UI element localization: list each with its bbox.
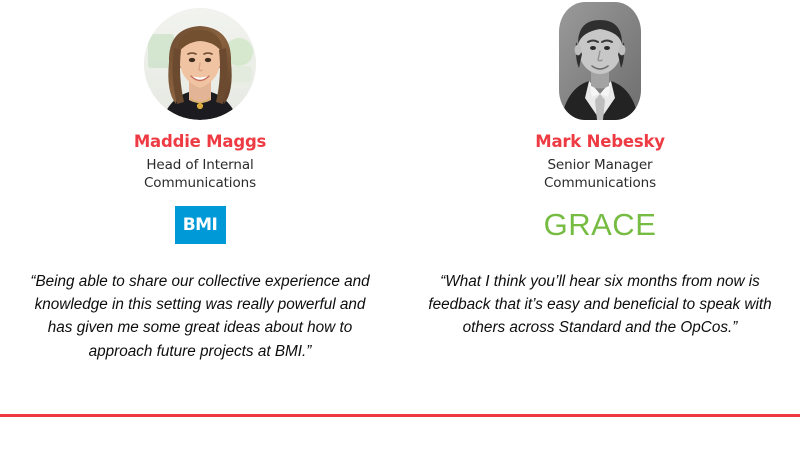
company-logo-wrapper-right: GRACE xyxy=(544,202,657,248)
person-name: Maddie Maggs xyxy=(134,133,266,151)
testimonials-columns: Maddie Maggs Head of Internal Communicat… xyxy=(0,0,800,410)
person-role-line-2: Communications xyxy=(144,175,256,193)
portrait-mark-nebesky xyxy=(559,2,641,120)
portrait-wrapper-right xyxy=(559,0,641,120)
testimonials-slide: Maddie Maggs Head of Internal Communicat… xyxy=(0,0,800,450)
quote-text: “Being able to share our collective expe… xyxy=(24,270,376,363)
portrait-wrapper-left xyxy=(144,0,256,120)
person-role-line-1: Senior Manager xyxy=(544,157,656,175)
portrait-maddie-maggs xyxy=(144,8,256,120)
person-name: Mark Nebesky xyxy=(535,133,665,151)
bmi-logo: BMI xyxy=(175,206,226,244)
quote-text: “What I think you’ll hear six months fro… xyxy=(424,270,776,340)
footer-rule xyxy=(0,414,800,417)
person-role-line-1: Head of Internal xyxy=(144,157,256,175)
person-role: Head of Internal Communications xyxy=(144,157,256,193)
testimonial-card-mark-nebesky: Mark Nebesky Senior Manager Communicatio… xyxy=(400,0,800,410)
testimonial-card-maddie-maggs: Maddie Maggs Head of Internal Communicat… xyxy=(0,0,400,410)
company-logo-wrapper-left: BMI xyxy=(175,202,226,248)
grace-logo: GRACE xyxy=(544,209,657,240)
person-role: Senior Manager Communications xyxy=(544,157,656,193)
person-role-line-2: Communications xyxy=(544,175,656,193)
